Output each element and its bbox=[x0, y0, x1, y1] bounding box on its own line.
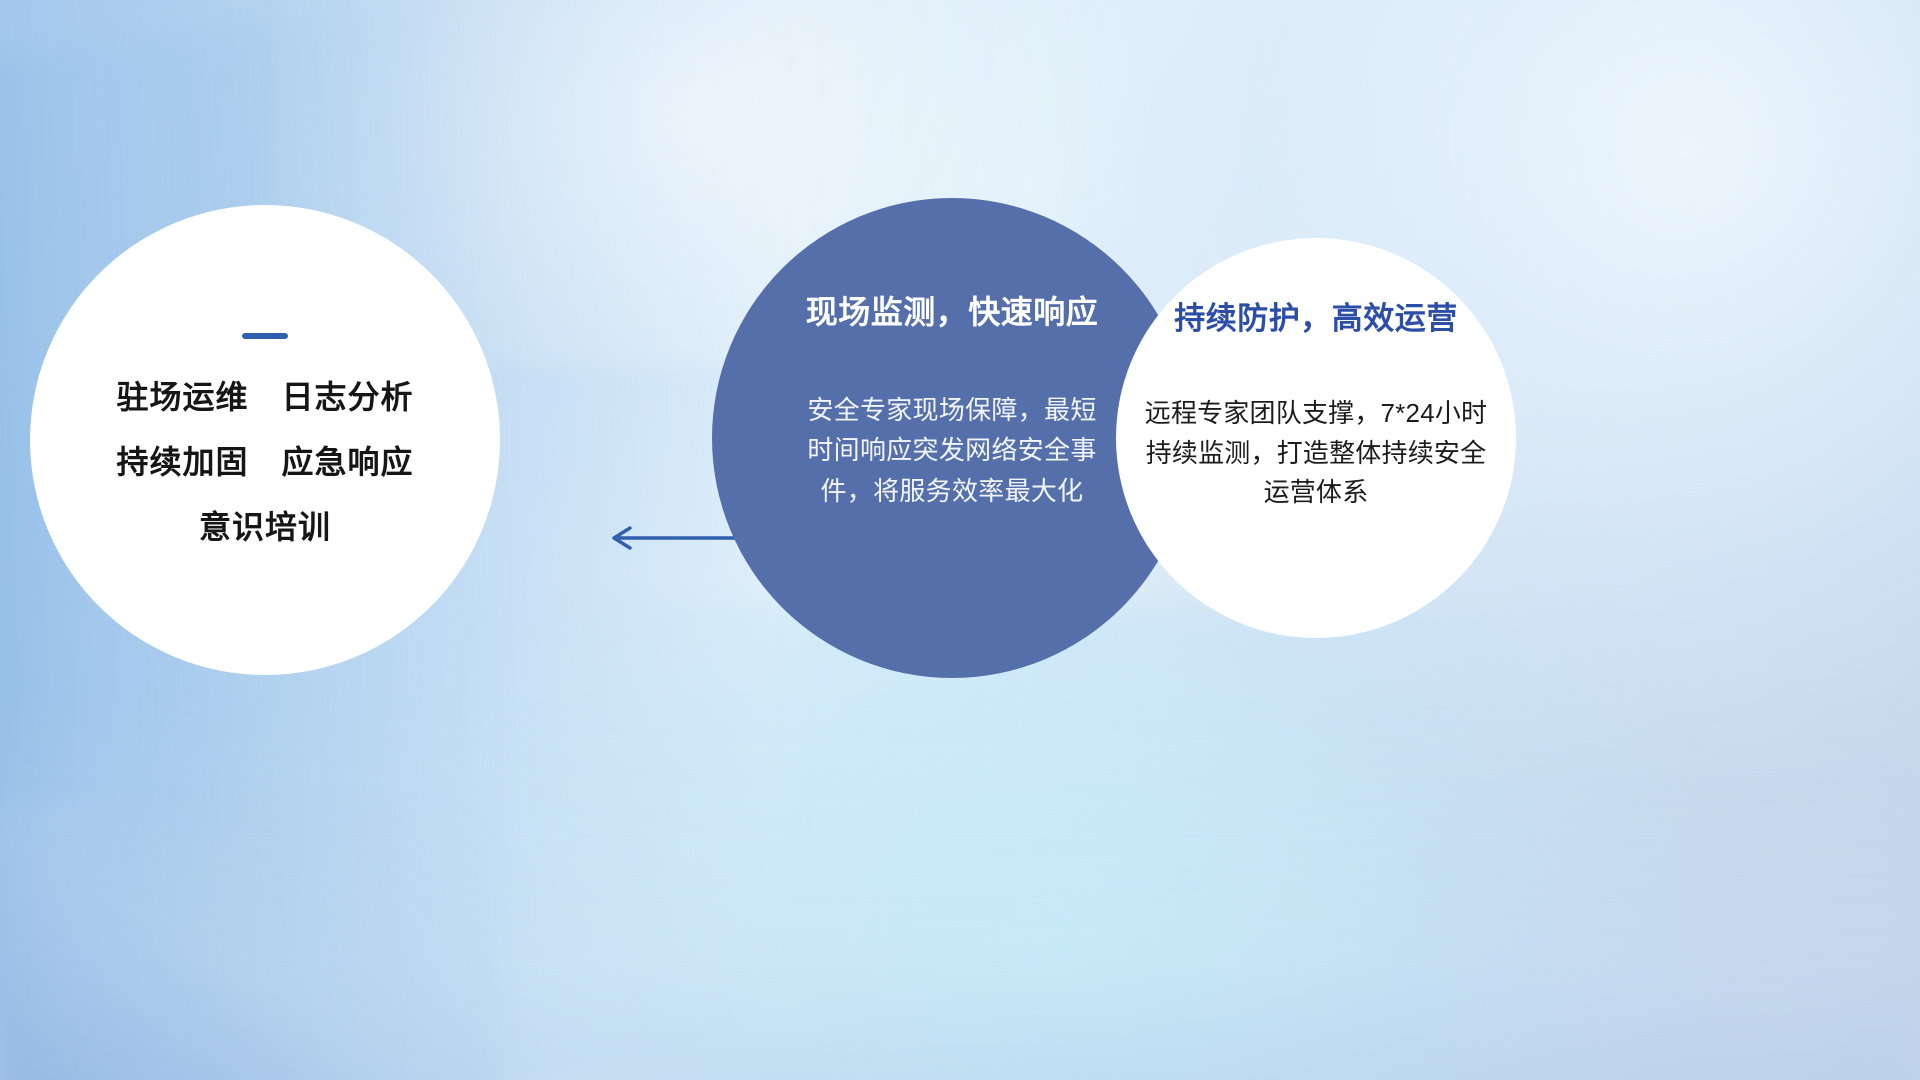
right-circle-body: 远程专家团队支撑，7*24小时持续监测，打造整体持续安全运营体系 bbox=[1136, 394, 1496, 513]
slide-canvas: 驻场运维 日志分析 持续加固 应急响应 意识培训 现场监测，快速响应 安全专家现… bbox=[0, 0, 1920, 1080]
horizontal-rule-icon bbox=[242, 333, 288, 339]
capability-circle-right: 持续防护，高效运营 远程专家团队支撑，7*24小时持续监测，打造整体持续安全运营… bbox=[1116, 238, 1516, 638]
capability-line-3: 意识培训 bbox=[199, 511, 331, 543]
middle-circle-title: 现场监测，快速响应 bbox=[806, 296, 1099, 328]
background-wash-bottom-left bbox=[0, 799, 499, 1080]
capability-line-1: 驻场运维 日志分析 bbox=[116, 381, 413, 413]
capability-circle-left: 驻场运维 日志分析 持续加固 应急响应 意识培训 bbox=[30, 205, 500, 675]
capability-line-2: 持续加固 应急响应 bbox=[116, 446, 413, 478]
right-circle-title: 持续防护，高效运营 bbox=[1174, 303, 1458, 334]
middle-circle-body: 安全专家现场保障，最短时间响应突发网络安全事件，将服务效率最大化 bbox=[802, 390, 1102, 511]
